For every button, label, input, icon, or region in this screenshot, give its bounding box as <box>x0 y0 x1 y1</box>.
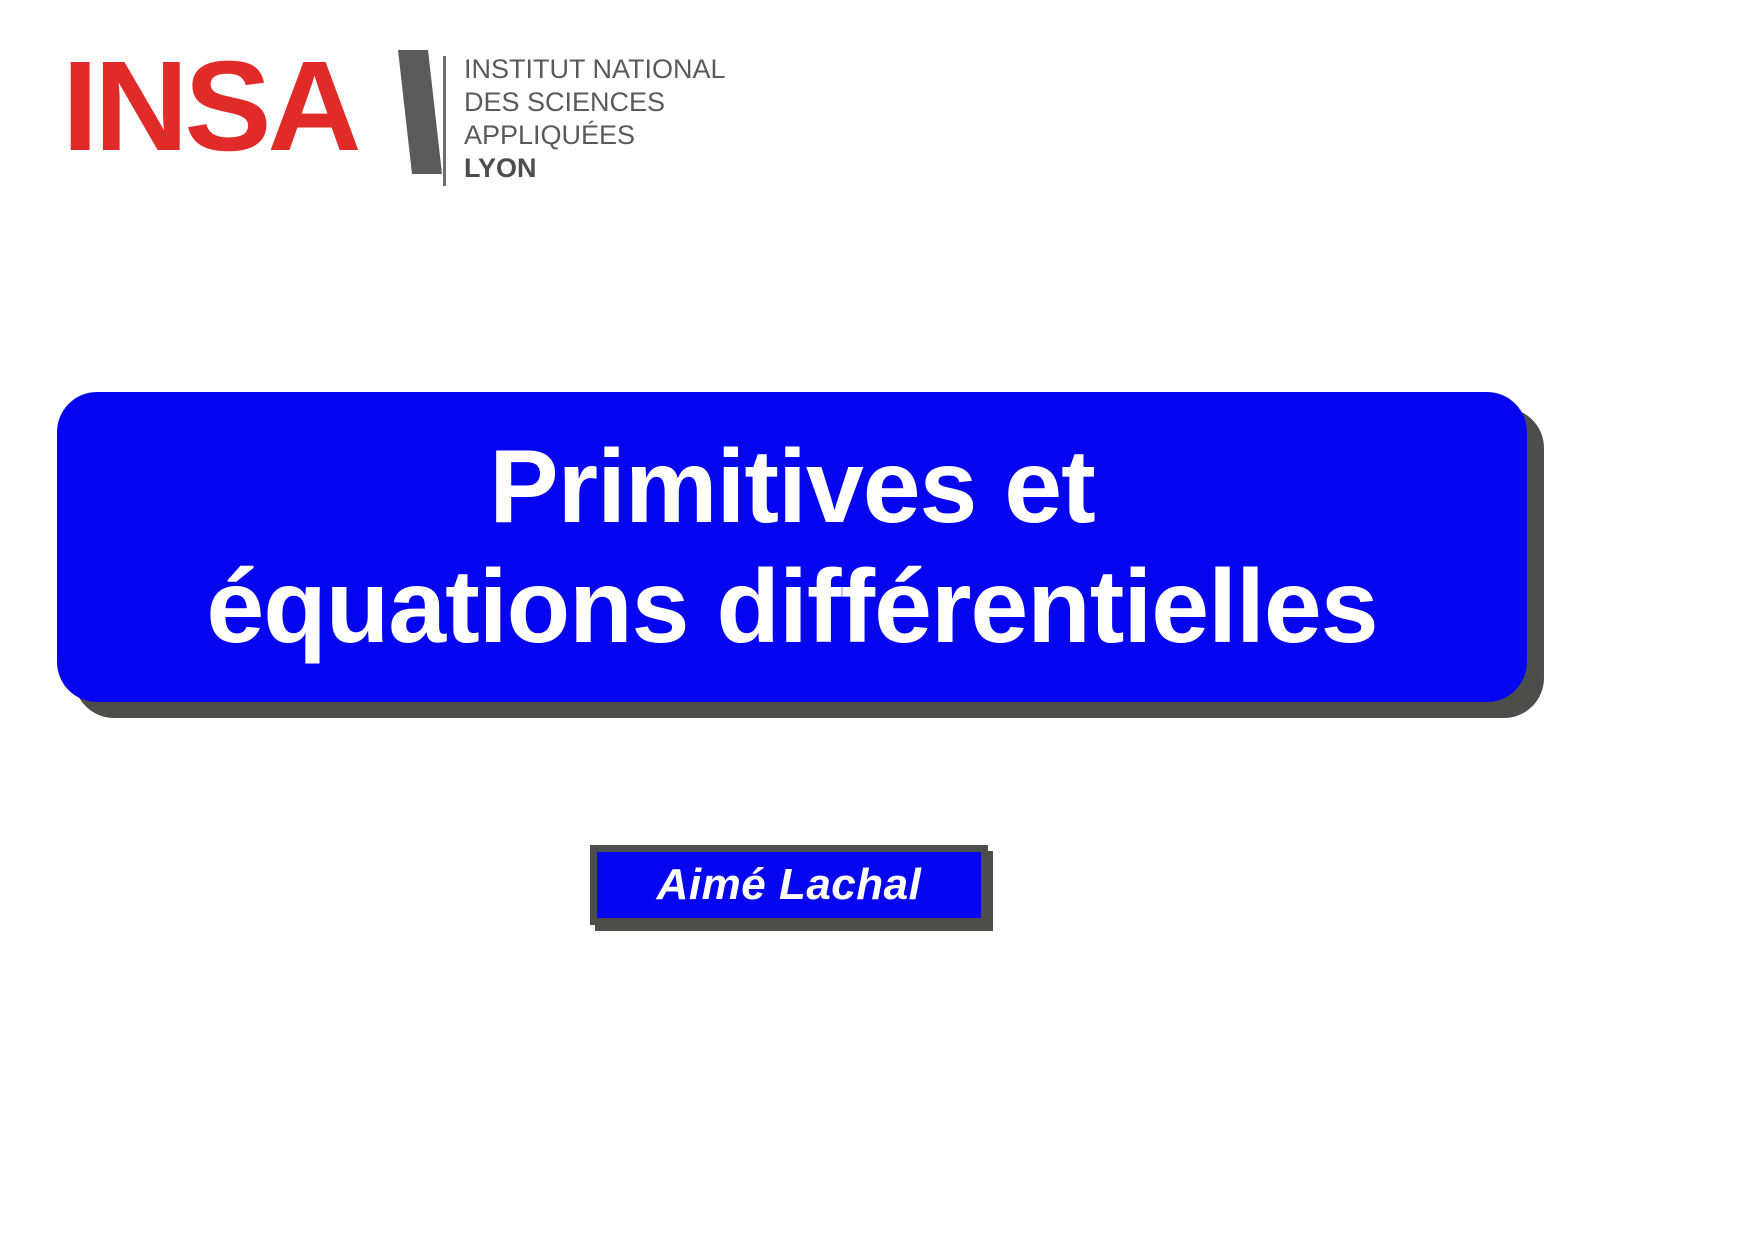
logo-line-appliquees: APPLIQUÉES <box>464 119 726 152</box>
insa-slash-icon <box>398 50 442 174</box>
insa-logo-subtitle: INSTITUT NATIONAL DES SCIENCES APPLIQUÉE… <box>464 53 726 185</box>
title-banner: Primitives et équations différentielles <box>57 392 1527 702</box>
insa-logo: INSA INSTITUT NATIONAL DES SCIENCES APPL… <box>62 48 682 193</box>
insa-wordmark-text: INSA <box>62 48 358 166</box>
author-name: Aimé Lachal <box>657 860 922 910</box>
logo-line-city: LYON <box>464 152 726 185</box>
insa-logo-mark: INSA <box>62 48 382 176</box>
logo-line-sciences: DES SCIENCES <box>464 86 726 119</box>
slide-title: Primitives et équations différentielles <box>57 427 1527 667</box>
logo-vertical-divider <box>443 56 446 186</box>
logo-line-institut: INSTITUT NATIONAL <box>464 53 726 86</box>
author-box: Aimé Lachal <box>590 845 988 925</box>
